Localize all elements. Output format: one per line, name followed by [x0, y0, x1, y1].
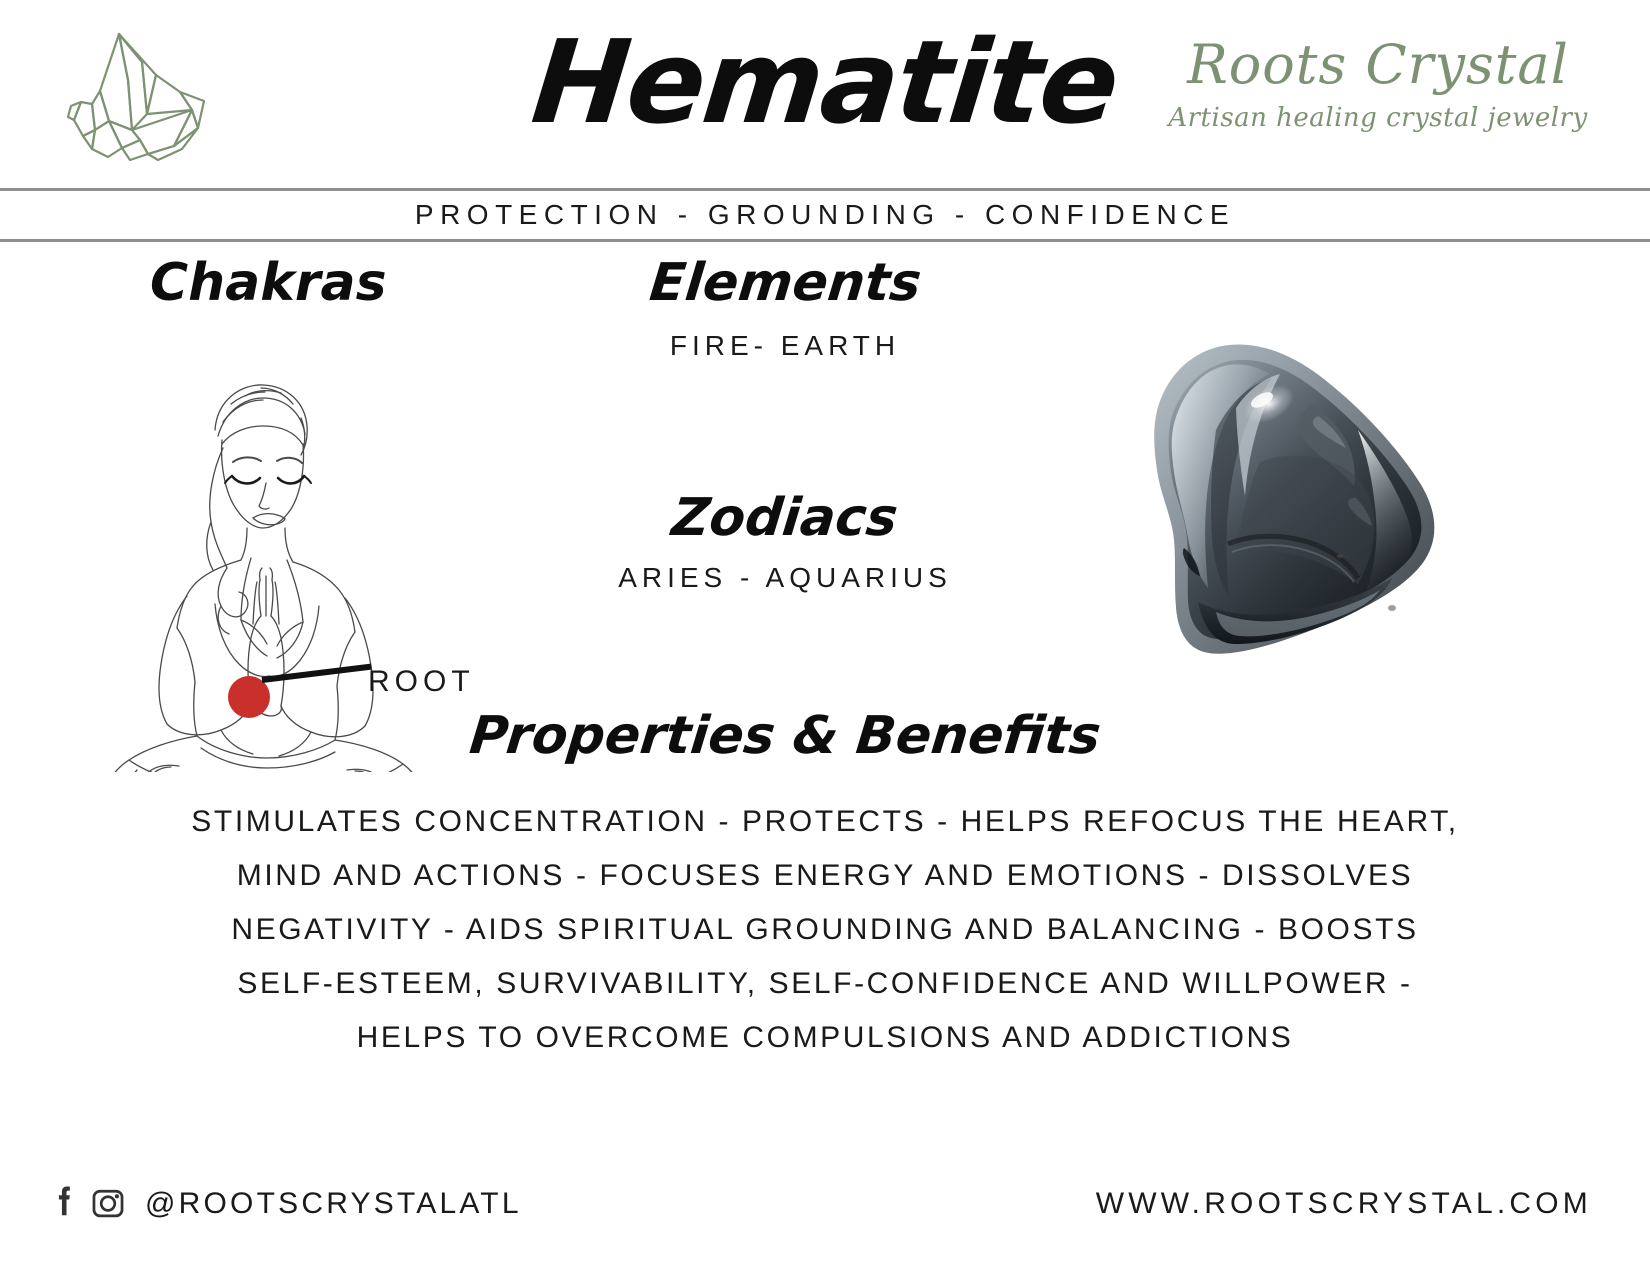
properties-line: HELPS TO OVERCOME COMPULSIONS AND ADDICT… [75, 1011, 1575, 1065]
keyword-band: PROTECTION - GROUNDING - CONFIDENCE [0, 188, 1650, 242]
keyword-band-text: PROTECTION - GROUNDING - CONFIDENCE [415, 199, 1235, 231]
brand-tagline: Artisan healing crystal jewelry [1158, 96, 1598, 140]
social-group: @ROOTSCRYSTALATL [55, 1183, 522, 1224]
instagram-icon[interactable] [91, 1184, 125, 1223]
card-footer: @ROOTSCRYSTALATL WWW.ROOTSCRYSTAL.COM [0, 1155, 1650, 1275]
brand-name: Roots Crystal [1158, 34, 1598, 96]
properties-line: NEGATIVITY - AIDS SPIRITUAL GROUNDING AN… [75, 903, 1575, 957]
properties-body: STIMULATES CONCENTRATION - PROTECTS - HE… [75, 795, 1575, 1065]
properties-line: SELF-ESTEEM, SURVIVABILITY, SELF-CONFIDE… [75, 957, 1575, 1011]
brand-block: Roots Crystal Artisan healing crystal je… [1158, 34, 1598, 140]
properties-line: MIND AND ACTIONS - FOCUSES ENERGY AND EM… [75, 849, 1575, 903]
root-chakra-label: ROOT [368, 665, 475, 699]
elements-heading: Elements [646, 252, 923, 314]
card-header: Hematite Roots Crystal Artisan healing c… [0, 0, 1650, 190]
properties-heading: Properties & Benefits [467, 705, 1104, 767]
website-url[interactable]: WWW.ROOTSCRYSTAL.COM [1096, 1187, 1592, 1221]
properties-heading-wrap: Properties & Benefits [0, 705, 1570, 767]
properties-line: STIMULATES CONCENTRATION - PROTECTS - HE… [75, 795, 1575, 849]
zodiacs-heading: Zodiacs [669, 487, 901, 549]
facebook-icon[interactable] [55, 1183, 77, 1224]
elements-heading-wrap: Elements [0, 252, 1570, 314]
crystal-info-card: Hematite Roots Crystal Artisan healing c… [0, 0, 1650, 1275]
hematite-tumbled-stone-photo [1040, 312, 1460, 687]
social-handle[interactable]: @ROOTSCRYSTALATL [145, 1187, 522, 1221]
